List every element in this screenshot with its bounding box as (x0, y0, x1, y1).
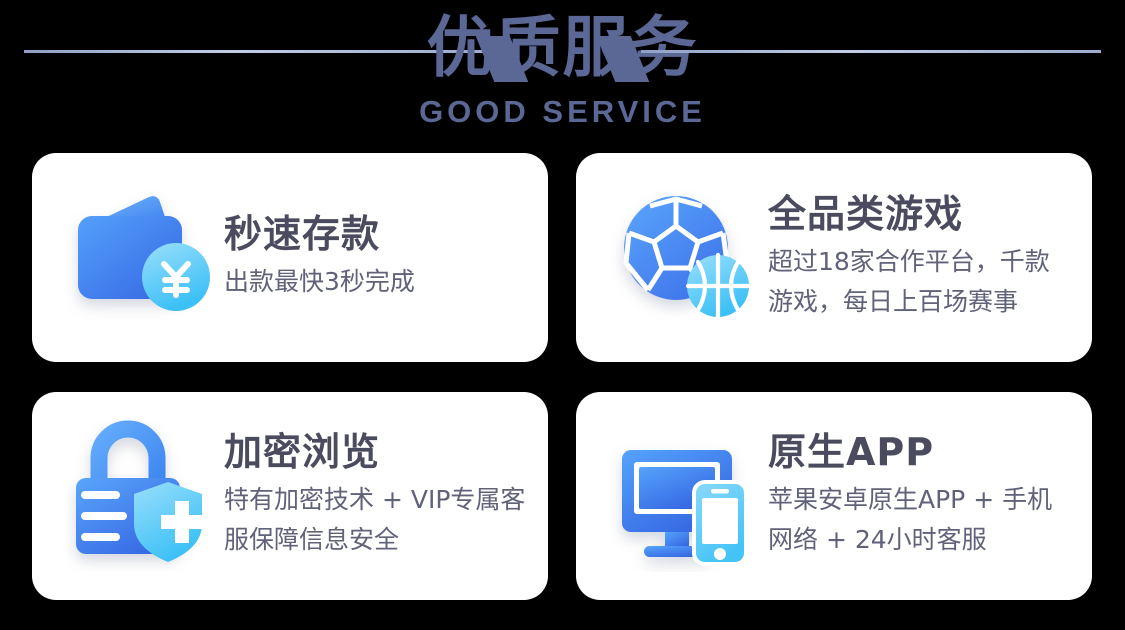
card-text-block: 加密浏览 特有加密技术 + VIP专属客 服保障信息安全 (224, 428, 525, 564)
card-subtitle-line: 服保障信息安全 (224, 520, 525, 560)
soccer-basketball-icon (610, 182, 762, 334)
wallet-yen-icon (66, 182, 218, 334)
monitor-phone-icon (610, 420, 762, 572)
feature-card-encryption[interactable]: 加密浏览 特有加密技术 + VIP专属客 服保障信息安全 (32, 392, 548, 600)
card-text-block: 秒速存款 出款最快3秒完成 (224, 210, 415, 306)
card-title: 全品类游戏 (768, 190, 1050, 238)
page-subtitle: GOOD SERVICE (0, 94, 1125, 130)
page-header: 优质服务 GOOD SERVICE (0, 0, 1125, 148)
feature-card-grid: 秒速存款 出款最快3秒完成 (32, 153, 1092, 600)
card-subtitle-line: 超过18家合作平台，千款 (768, 242, 1050, 282)
card-text-block: 原生APP 苹果安卓原生APP + 手机 网络 + 24小时客服 (768, 428, 1052, 564)
feature-card-deposit[interactable]: 秒速存款 出款最快3秒完成 (32, 153, 548, 362)
feature-card-games[interactable]: 全品类游戏 超过18家合作平台，千款 游戏，每日上百场赛事 (576, 153, 1092, 362)
card-title: 加密浏览 (224, 428, 525, 476)
card-title: 秒速存款 (224, 210, 415, 258)
lock-shield-icon (66, 420, 218, 572)
header-rule-right-decoration (641, 50, 1101, 53)
card-text-block: 全品类游戏 超过18家合作平台，千款 游戏，每日上百场赛事 (768, 190, 1050, 326)
card-subtitle-line: 游戏，每日上百场赛事 (768, 282, 1050, 322)
page-title: 优质服务 (0, 6, 1125, 90)
feature-card-native-app[interactable]: 原生APP 苹果安卓原生APP + 手机 网络 + 24小时客服 (576, 392, 1092, 600)
card-subtitle-line: 特有加密技术 + VIP专属客 (224, 480, 525, 520)
card-subtitle-line: 苹果安卓原生APP + 手机 (768, 480, 1052, 520)
card-subtitle-line: 出款最快3秒完成 (224, 262, 415, 302)
card-title: 原生APP (768, 428, 1052, 476)
card-subtitle-line: 网络 + 24小时客服 (768, 520, 1052, 560)
